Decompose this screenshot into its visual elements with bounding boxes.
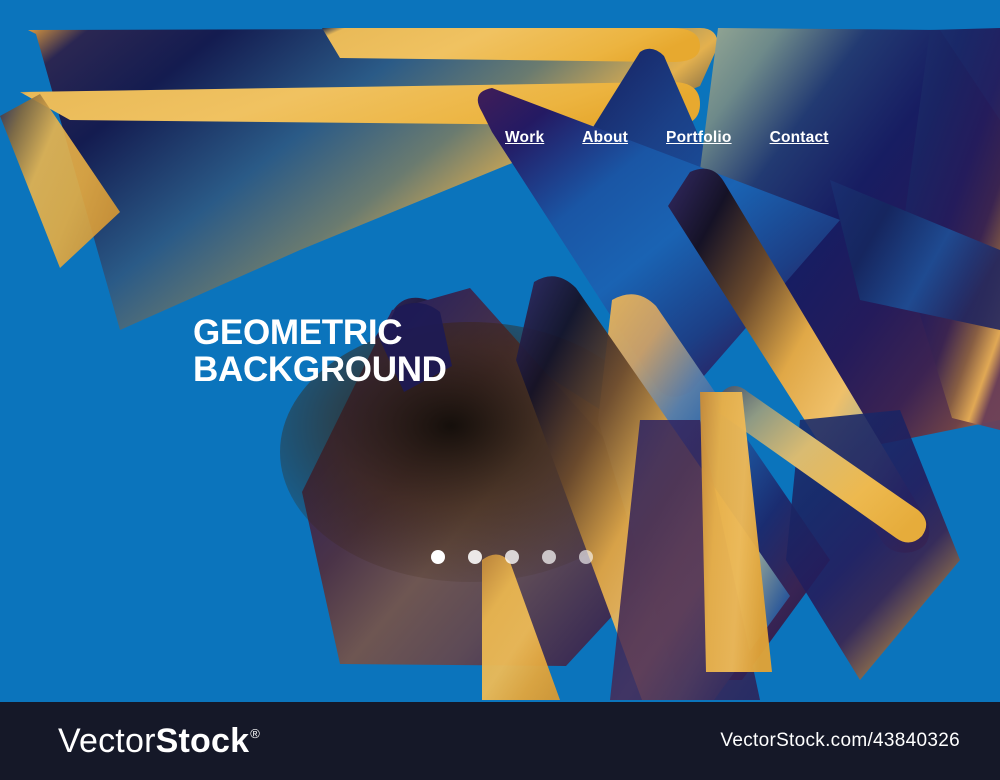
nav-item-about[interactable]: About [582,126,628,150]
screenshot-root: Work About Portfolio Contact GEOMETRIC B… [0,0,1000,780]
hero-section: Work About Portfolio Contact GEOMETRIC B… [0,0,1000,702]
brand-name-light: Vector [58,722,156,760]
registered-trademark-icon: ® [250,725,260,743]
hero-headline: GEOMETRIC BACKGROUND [193,314,447,388]
geometric-background-artwork [0,0,1000,702]
watermark-footer: Vector Stock ® VectorStock.com/43840326 [0,702,1000,780]
watermark-url: VectorStock.com/43840326 [720,730,960,752]
headline-line-2: BACKGROUND [193,351,447,388]
carousel-dot-4[interactable] [542,550,556,564]
nav-item-contact[interactable]: Contact [770,126,829,150]
nav-item-work[interactable]: Work [505,126,544,150]
vectorstock-logo: Vector Stock ® [58,722,260,760]
carousel-pagination [431,550,593,564]
nav-item-portfolio[interactable]: Portfolio [666,126,732,150]
carousel-dot-1[interactable] [431,550,445,564]
main-navigation: Work About Portfolio Contact [0,126,1000,150]
carousel-dot-3[interactable] [505,550,519,564]
headline-line-1: GEOMETRIC [193,314,447,351]
carousel-dot-2[interactable] [468,550,482,564]
carousel-dot-5[interactable] [579,550,593,564]
brand-name-bold: Stock [156,722,250,760]
